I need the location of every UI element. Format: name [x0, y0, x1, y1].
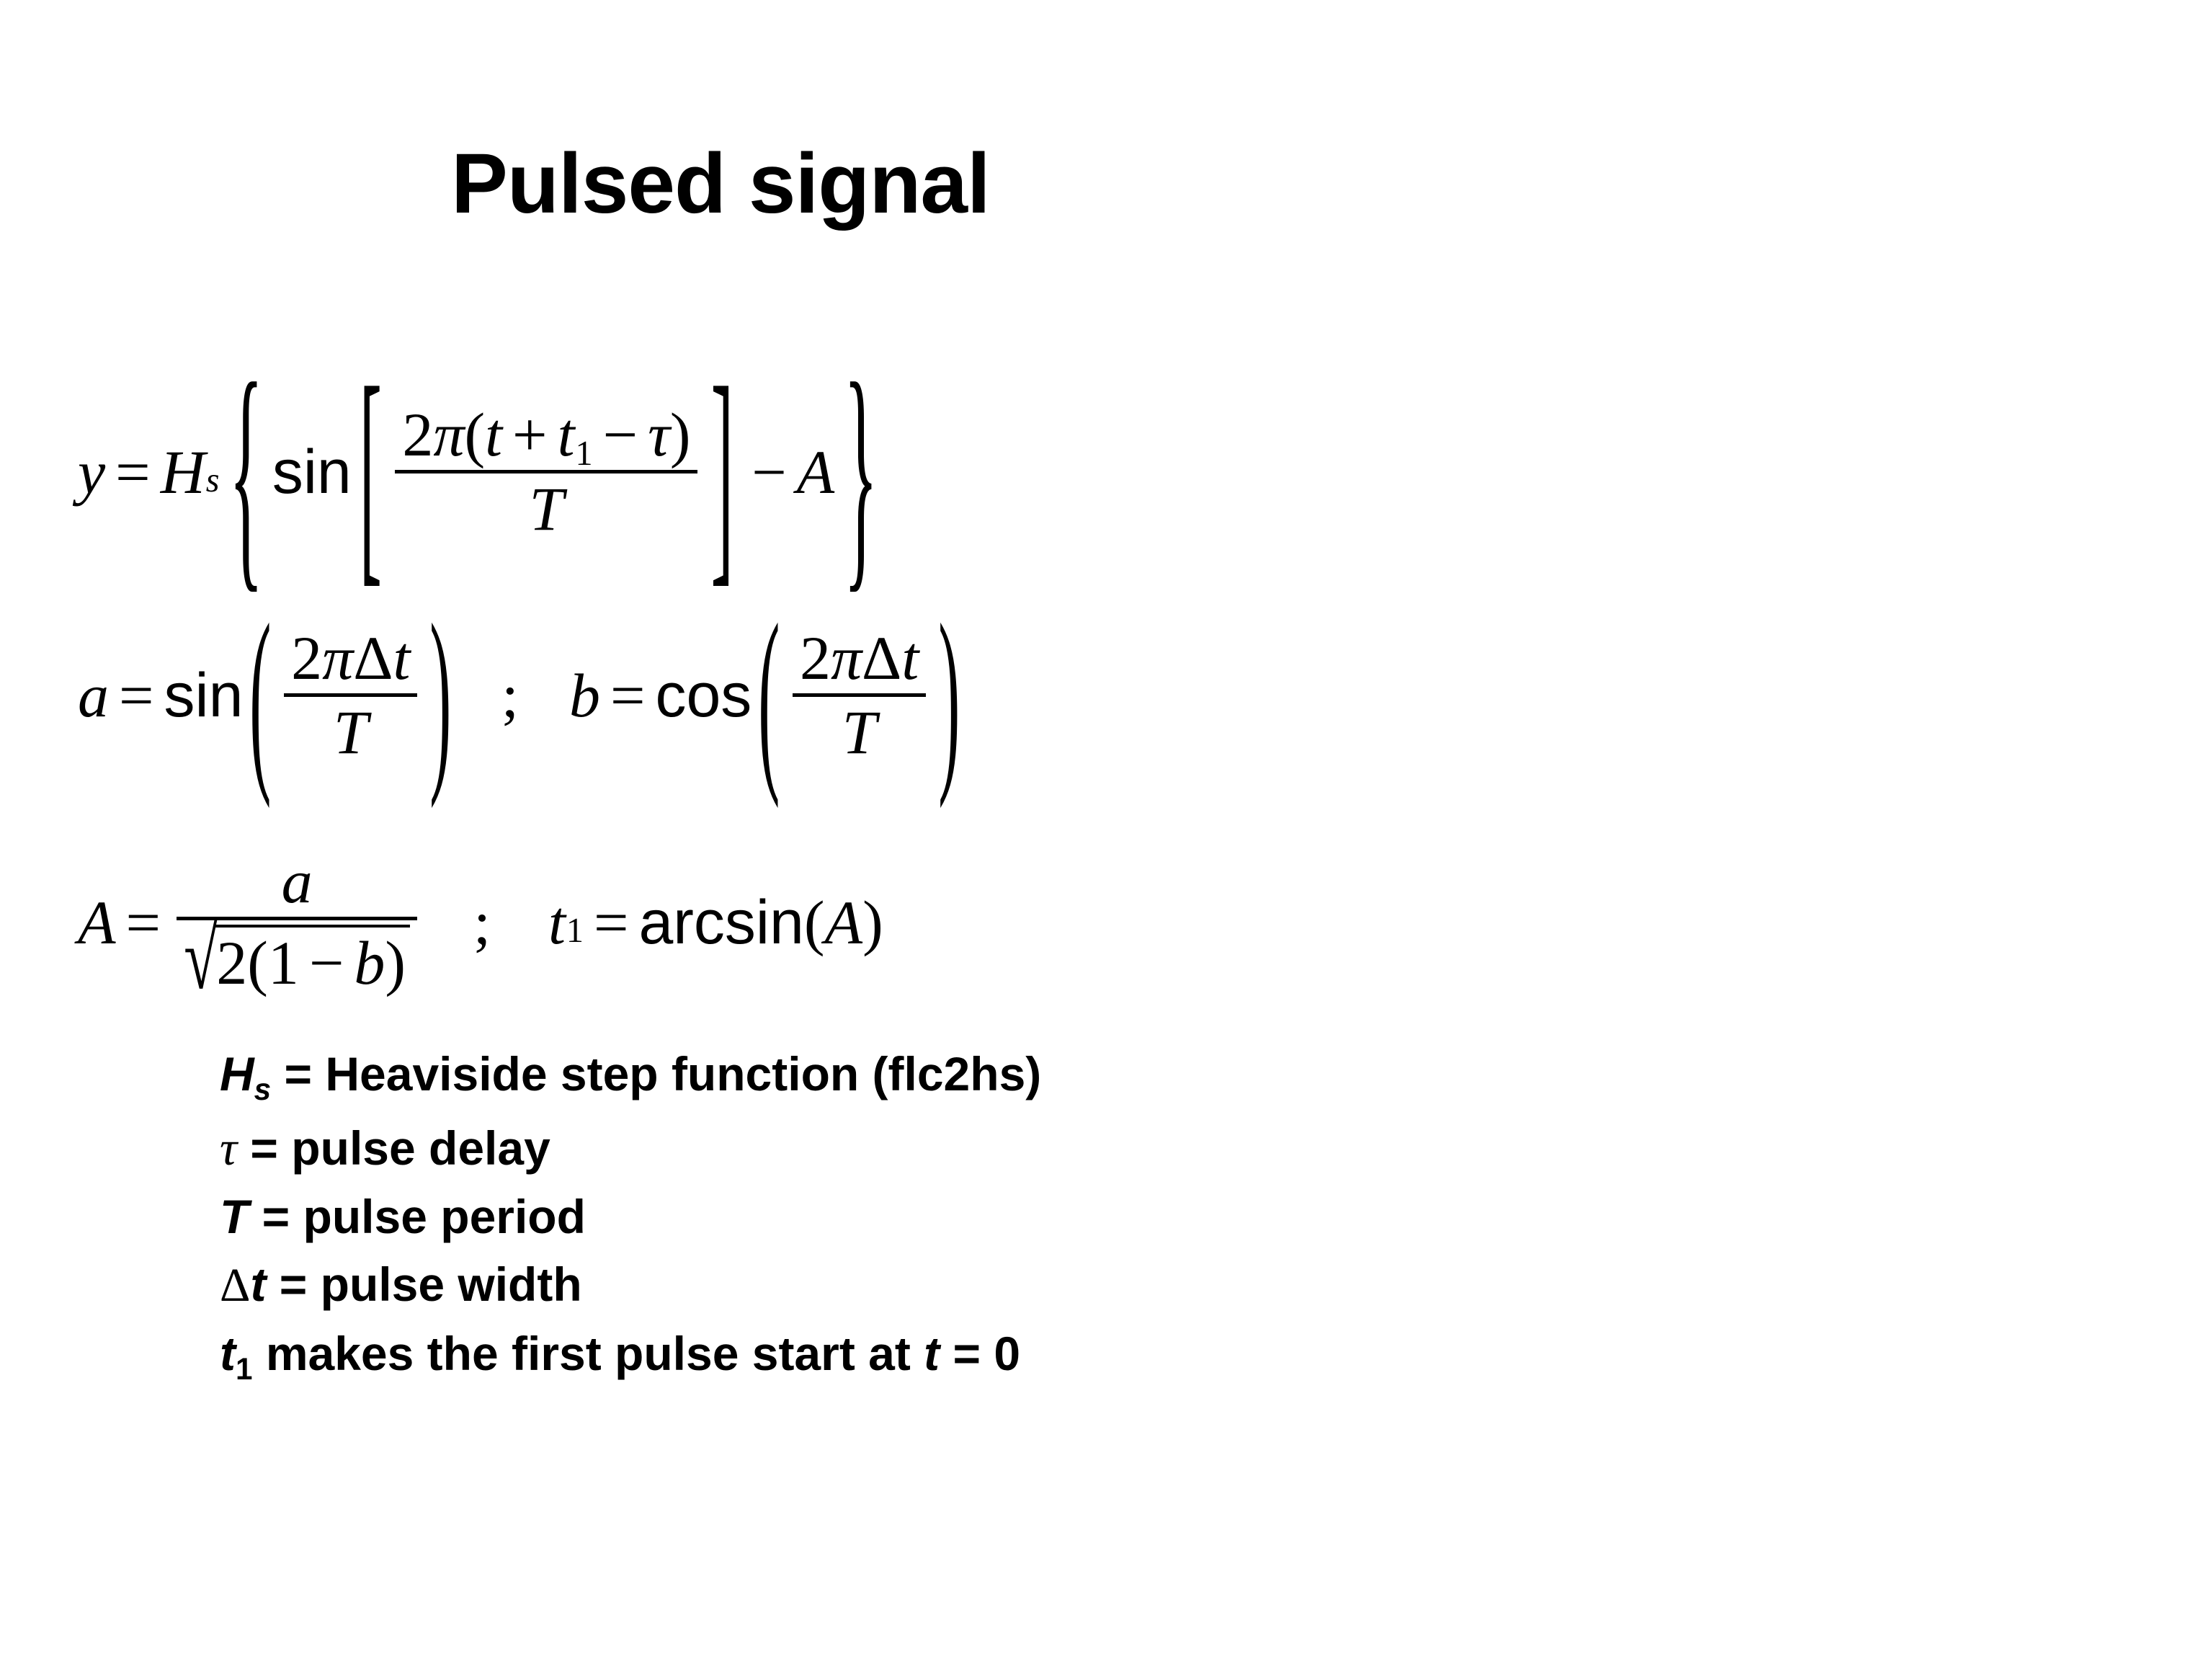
eq1-lhs-y: y — [78, 441, 105, 503]
eq3-rad-two: 2 — [216, 928, 247, 997]
legend-item-period: T = pulse period — [220, 1183, 1041, 1250]
legend-item-heaviside: Hs = Heaviside step function (flc2hs) — [220, 1040, 1041, 1114]
equation-a-b-coefficients: a = sin ( 2πΔt T ) ; b = cos ( 2πΔt T ) — [78, 627, 967, 763]
eq2-numerator-left: 2πΔt — [284, 627, 417, 693]
eq1-bracket-close: ] — [711, 351, 734, 592]
eq1-num-t: t — [485, 400, 502, 469]
eq3-rad-paren-open: ( — [247, 928, 268, 997]
page-title: Pulsed signal — [0, 141, 1441, 226]
symbol-legend: Hs = Heaviside step function (flc2hs) τ … — [220, 1040, 1041, 1394]
eq1-brace-close: } — [844, 344, 878, 599]
eq2-num-two-left: 2 — [291, 623, 322, 693]
eq1-num-paren-open: ( — [465, 400, 486, 469]
eq1-minus: − — [752, 441, 787, 503]
legend-symbol-t1-subscript: 1 — [236, 1352, 253, 1386]
eq3-equals-right: = — [594, 891, 629, 953]
eq1-num-plus: + — [512, 400, 548, 469]
eq2-equals-right: = — [610, 664, 646, 726]
legend-text-tau: = pulse delay — [237, 1121, 550, 1175]
eq2-num-two-right: 2 — [800, 623, 831, 693]
eq3-denominator: √ 2(1−b) — [177, 920, 417, 994]
eq1-sin-function: sin — [272, 441, 352, 503]
eq3-lhs-t1: t — [548, 891, 566, 953]
eq2-num-t-right: t — [901, 623, 919, 693]
eq1-fraction: 2π(t+t1−τ) T — [395, 404, 697, 540]
eq3-paren-close-right: ) — [862, 891, 883, 953]
eq1-num-minus: − — [603, 400, 638, 469]
eq3-rad-b: b — [354, 928, 385, 997]
eq1-denominator-T: T — [522, 473, 571, 540]
eq1-numerator: 2π(t+t1−τ) — [395, 404, 697, 470]
eq2-num-delta-left: Δ — [353, 623, 393, 693]
legend-text-t1: makes the first pulse start at — [252, 1327, 924, 1380]
eq3-arg-A: A — [825, 891, 863, 953]
delta-icon: Δ — [220, 1259, 250, 1312]
eq2-paren-open-right: ( — [759, 593, 780, 798]
eq1-num-two: 2 — [402, 400, 433, 469]
eq2-num-delta-right: Δ — [862, 623, 901, 693]
eq2-num-pi-left: π — [322, 623, 353, 693]
legend-tail-text: = 0 — [940, 1327, 1020, 1380]
eq2-denominator-T-right: T — [835, 697, 884, 763]
eq2-paren-close-right: ) — [939, 593, 960, 798]
legend-item-tau: τ = pulse delay — [220, 1114, 1041, 1183]
eq1-num-t1: t — [558, 400, 575, 469]
equation-pulsed-signal: y = Hs { sin [ 2π(t+t1−τ) T ] − A } — [78, 404, 887, 540]
eq3-paren-open-right: ( — [804, 891, 825, 953]
eq3-separator-semicolon: ; — [473, 891, 491, 953]
eq1-bracket-open: [ — [359, 351, 382, 592]
eq1-num-paren-close: ) — [670, 400, 691, 469]
radical-icon: √ — [184, 912, 218, 1013]
legend-symbol-width-t: t — [250, 1258, 266, 1311]
eq2-cos-function: cos — [655, 664, 752, 726]
eq3-arcsin-function: arcsin — [638, 891, 803, 953]
legend-text-period: = pulse period — [249, 1190, 586, 1243]
legend-symbol-H: H — [220, 1047, 254, 1100]
eq1-num-t1-subscript: 1 — [575, 435, 592, 473]
eq2-num-t-left: t — [393, 623, 411, 693]
legend-tail-var-t: t — [924, 1327, 940, 1380]
eq1-num-tau: τ — [648, 400, 670, 469]
eq3-fraction: a √ 2(1−b) — [177, 850, 417, 994]
eq3-equals-left: = — [126, 891, 161, 953]
eq3-lhs-t1-subscript: 1 — [566, 914, 584, 948]
eq2-sin-function: sin — [164, 664, 244, 726]
legend-symbol-tau: τ — [220, 1121, 237, 1175]
eq3-rad-minus: − — [309, 928, 344, 997]
eq1-heaviside-H: H — [161, 441, 205, 503]
eq2-lhs-a: a — [78, 664, 109, 726]
eq2-fraction-right: 2πΔt T — [793, 627, 926, 763]
legend-text-width: = pulse width — [266, 1258, 581, 1311]
eq3-rad-paren-close: ) — [385, 928, 406, 997]
eq1-amplitude-A: A — [797, 441, 835, 503]
eq3-numerator-a: a — [275, 850, 320, 917]
eq3-rad-one: 1 — [268, 928, 299, 997]
eq2-paren-close-left: ) — [430, 593, 452, 798]
legend-symbol-H-subscript: s — [254, 1072, 272, 1106]
legend-symbol-delta-t: Δt — [220, 1259, 266, 1312]
eq1-brace-open: { — [228, 344, 262, 599]
eq2-equals-left: = — [119, 664, 154, 726]
eq3-radicand: 2(1−b) — [215, 925, 410, 994]
legend-item-t1: t1 makes the first pulse start at t = 0 — [220, 1320, 1041, 1394]
legend-symbol-t1: t — [220, 1327, 236, 1380]
eq2-denominator-T-left: T — [326, 697, 375, 763]
equation-A-and-t1: A = a √ 2(1−b) ; t1 = arcsin(A) — [78, 850, 883, 994]
eq1-equals: = — [115, 441, 151, 503]
eq3-lhs-A: A — [78, 891, 116, 953]
eq2-paren-open-left: ( — [250, 593, 272, 798]
eq2-numerator-right: 2πΔt — [793, 627, 926, 693]
eq2-fraction-left: 2πΔt T — [284, 627, 417, 763]
legend-text-heaviside: = Heaviside step function (flc2hs) — [271, 1047, 1041, 1100]
eq2-separator-semicolon: ; — [501, 664, 519, 726]
eq2-lhs-b: b — [569, 664, 600, 726]
eq1-heaviside-subscript: s — [206, 463, 220, 498]
legend-symbol-T: T — [220, 1190, 249, 1243]
eq3-square-root: √ 2(1−b) — [184, 925, 410, 994]
eq1-num-pi: π — [433, 400, 464, 469]
legend-item-width: Δt = pulse width — [220, 1250, 1041, 1320]
eq2-num-pi-right: π — [831, 623, 862, 693]
